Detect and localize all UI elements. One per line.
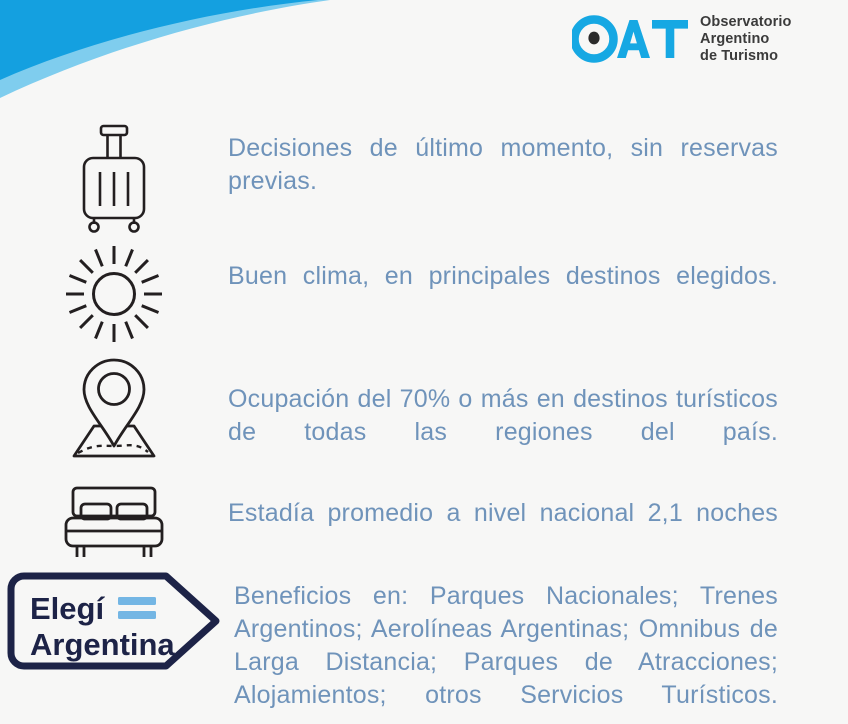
bullet-text-occupancy: Ocupación del 70% o más en destinos turí… (228, 346, 848, 482)
suitcase-icon (0, 112, 228, 234)
bullet-text-weather-value: Buen clima, en principales destinos eleg… (228, 260, 778, 326)
oat-logo-wordmark: Observatorio Argentino de Turismo (700, 14, 791, 64)
bullet-text-benefits: Beneficios en: Parques Nacionales; Trene… (234, 558, 848, 724)
top-left-swoosh-decoration (0, 0, 360, 110)
swoosh-dark-shape (0, 0, 318, 80)
badge-line-2: Argentina (30, 627, 175, 662)
bullet-text-weather: Buen clima, en principales destinos eleg… (228, 230, 848, 326)
bullet-row-weather: Buen clima, en principales destinos eleg… (0, 230, 848, 346)
oat-logo-line-2: Argentino (700, 31, 791, 48)
badge-line-1: Elegí (30, 591, 105, 626)
bullet-row-occupancy: Ocupación del 70% o más en destinos turí… (0, 346, 848, 464)
sun-icon (0, 230, 228, 346)
swoosh-light-shape (0, 0, 330, 98)
oat-logo: Observatorio Argentino de Turismo (572, 14, 791, 64)
flag-bar-bottom (118, 611, 156, 619)
bullet-text-stay-value: Estadía promedio a nivel nacional 2,1 no… (228, 497, 778, 563)
infographic-page: Observatorio Argentino de Turismo (0, 0, 848, 724)
bullet-row-suitcase: Decisiones de último momento, sin reserv… (0, 112, 848, 230)
bullet-rows: Decisiones de último momento, sin reserv… (0, 112, 848, 708)
oat-logo-line-1: Observatorio (700, 14, 791, 31)
oat-logo-mark (572, 15, 690, 63)
map-pin-icon (0, 346, 228, 462)
bullet-text-benefits-value: Beneficios en: Parques Nacionales; Trene… (234, 580, 778, 724)
bullet-row-stay: Estadía promedio a nivel nacional 2,1 no… (0, 464, 848, 558)
bed-icon (0, 464, 228, 560)
bullet-text-stay: Estadía promedio a nivel nacional 2,1 no… (228, 464, 848, 563)
elegi-argentina-badge: Elegí Argentina (0, 558, 234, 672)
bullet-text-suitcase-value: Decisiones de último momento, sin reserv… (228, 132, 778, 231)
flag-bar-top (118, 597, 156, 605)
bullet-text-suitcase: Decisiones de último momento, sin reserv… (228, 112, 848, 231)
oat-logo-line-3: de Turismo (700, 48, 791, 65)
bullet-row-benefits: Elegí Argentina Beneficios en: Parques N… (0, 558, 848, 708)
